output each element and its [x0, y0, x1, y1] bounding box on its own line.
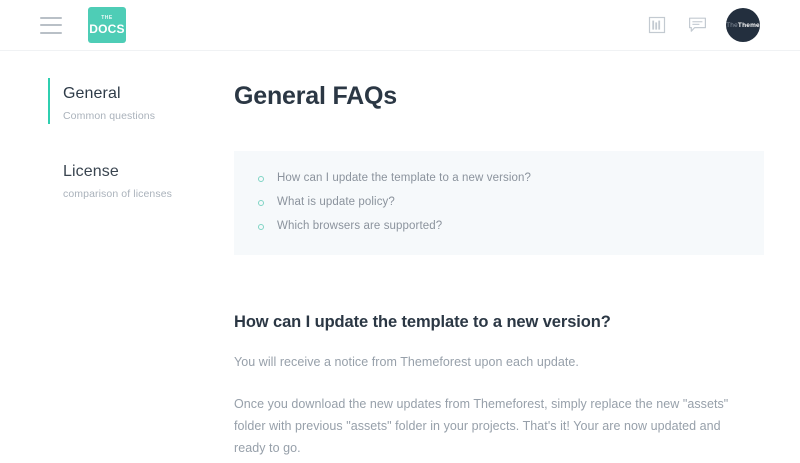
bullet-circle-icon [258, 176, 264, 182]
hamburger-menu-icon[interactable] [40, 17, 62, 34]
hamburger-bar [40, 17, 62, 19]
toc-list: How can I update the template to a new v… [258, 169, 740, 236]
comment-icon[interactable] [686, 14, 708, 36]
sidebar-item-title: General [63, 83, 212, 105]
top-header: THE DOCS TheTheme [0, 0, 800, 51]
header-left-group: THE DOCS [0, 7, 126, 43]
faq-section-update-version: How can I update the template to a new v… [234, 311, 764, 459]
page-title: General FAQs [234, 81, 764, 111]
header-right-group: TheTheme [646, 8, 800, 42]
logo-main-text: DOCS [89, 23, 124, 35]
sidebar: General Common questions License compari… [0, 51, 232, 463]
sidebar-item-subtitle: Common questions [63, 108, 212, 124]
list-item[interactable]: What is update policy? [258, 193, 740, 212]
hamburger-bar [40, 24, 62, 26]
toc-link[interactable]: Which browsers are supported? [277, 217, 442, 236]
bullet-circle-icon [258, 200, 264, 206]
sidebar-spacer [0, 132, 232, 153]
section-paragraph: You will receive a notice from Themefore… [234, 351, 742, 373]
library-icon[interactable] [646, 14, 668, 36]
list-item[interactable]: Which browsers are supported? [258, 217, 740, 236]
avatar-text-light: The [726, 22, 738, 29]
toc-link[interactable]: What is update policy? [277, 193, 395, 212]
avatar-label: TheTheme [726, 22, 760, 29]
avatar[interactable]: TheTheme [726, 8, 760, 42]
table-of-contents: How can I update the template to a new v… [234, 151, 764, 255]
sidebar-item-subtitle: comparison of licenses [63, 186, 212, 202]
sidebar-item-license[interactable]: License comparison of licenses [0, 153, 232, 210]
logo-top-text: THE [101, 16, 113, 21]
section-paragraph: Once you download the new updates from T… [234, 393, 742, 459]
sidebar-item-title: License [63, 161, 212, 183]
app-root: THE DOCS TheTheme [0, 0, 800, 463]
toc-link[interactable]: How can I update the template to a new v… [277, 169, 531, 188]
list-item[interactable]: How can I update the template to a new v… [258, 169, 740, 188]
section-heading: How can I update the template to a new v… [234, 311, 764, 333]
hamburger-bar [40, 32, 62, 34]
bullet-circle-icon [258, 224, 264, 230]
main-content: General FAQs How can I update the templa… [232, 51, 800, 463]
avatar-text-bold: Theme [738, 22, 760, 29]
site-logo[interactable]: THE DOCS [88, 7, 126, 43]
sidebar-item-general[interactable]: General Common questions [0, 75, 232, 132]
